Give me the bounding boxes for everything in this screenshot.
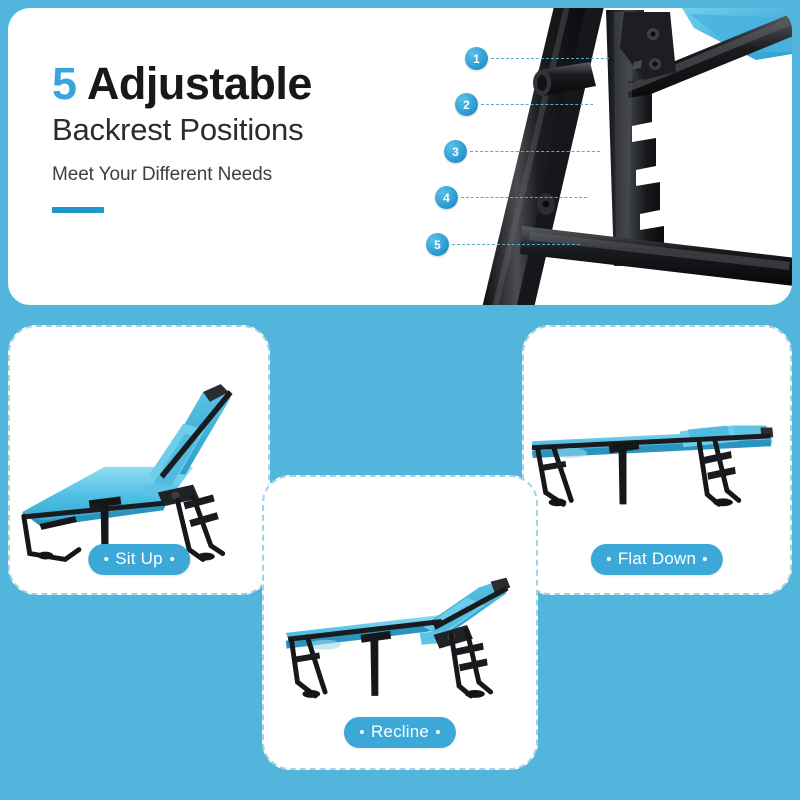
bullet-dot-icon (703, 557, 707, 561)
callout-badge-4: 4 (435, 186, 458, 209)
bullet-dot-icon (360, 730, 364, 734)
callout-1[interactable]: 1 (465, 47, 609, 70)
callout-badge-2: 2 (455, 93, 478, 116)
callout-5[interactable]: 5 (426, 233, 580, 256)
tagline: Meet Your Different Needs (52, 164, 432, 186)
bullet-dot-icon (436, 730, 440, 734)
position-card-sit-up[interactable]: Sit Up (8, 325, 270, 595)
callout-badge-1: 1 (465, 47, 488, 70)
leader-line-5 (452, 244, 580, 245)
headline-rest: Adjustable (87, 58, 312, 109)
card-label-text: Sit Up (115, 549, 163, 569)
callout-badge-3: 3 (444, 140, 467, 163)
bullet-dot-icon (170, 557, 174, 561)
card-label-flat-down: Flat Down (591, 544, 723, 575)
card-label-text: Recline (371, 722, 429, 742)
infographic-stage: 5 Adjustable Backrest Positions Meet You… (0, 0, 800, 800)
leader-line-1 (491, 58, 609, 59)
callout-2[interactable]: 2 (455, 93, 593, 116)
bullet-dot-icon (607, 557, 611, 561)
leader-line-3 (470, 151, 600, 152)
subheadline: Backrest Positions (52, 111, 432, 150)
accent-underline (52, 207, 104, 213)
card-label-recline: Recline (344, 717, 456, 748)
callout-badge-5: 5 (426, 233, 449, 256)
page-title: 5 Adjustable (52, 60, 432, 107)
leader-line-4 (461, 197, 587, 198)
position-card-flat-down[interactable]: Flat Down (522, 325, 792, 595)
headline-number: 5 (52, 58, 77, 109)
card-label-sit-up: Sit Up (88, 544, 190, 575)
position-card-recline[interactable]: Recline (262, 475, 538, 770)
card-label-text: Flat Down (618, 549, 696, 569)
bullet-dot-icon (104, 557, 108, 561)
hero-text-block: 5 Adjustable Backrest Positions Meet You… (52, 60, 432, 213)
leader-line-2 (481, 104, 593, 105)
hero-panel: 5 Adjustable Backrest Positions Meet You… (8, 8, 792, 305)
callout-4[interactable]: 4 (435, 186, 587, 209)
callout-3[interactable]: 3 (444, 140, 600, 163)
